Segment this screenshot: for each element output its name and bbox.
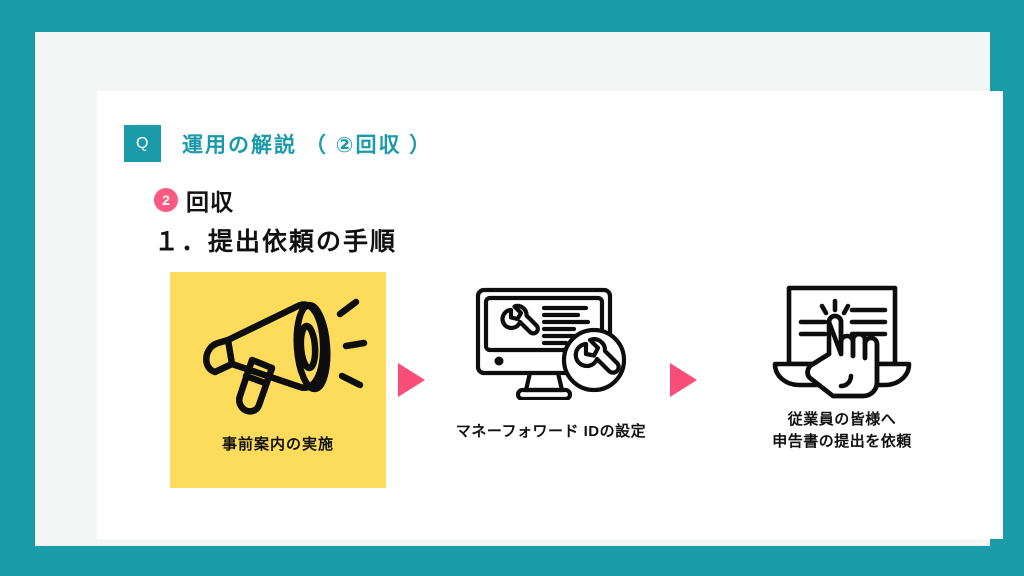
- flow-step-2-label: マネーフォワード IDの設定: [437, 420, 665, 441]
- flow-arrow-1-icon: [398, 363, 425, 397]
- section-title: 回収: [186, 183, 234, 217]
- monitor-settings-icon-wrap: [437, 281, 665, 401]
- laptop-hand-pointer-icon-wrap: [717, 281, 967, 401]
- megaphone-icon-wrap: [170, 290, 386, 420]
- slide-canvas: Q 運用の解説 （ ②回収 ） 2 回収 １．提出依頼の手順: [0, 0, 1024, 576]
- megaphone-icon: [188, 290, 368, 420]
- page-title: 運用の解説 （ ②回収 ）: [182, 129, 432, 159]
- monitor-settings-icon: [466, 282, 636, 400]
- q-badge-label: Q: [136, 135, 149, 153]
- flow-step-2: マネーフォワード IDの設定: [437, 281, 665, 481]
- slide-frame: Q 運用の解説 （ ②回収 ） 2 回収 １．提出依頼の手順: [35, 32, 990, 546]
- flow-step-3-label-line2: 申告書の提出を依頼: [717, 431, 967, 453]
- flow-step-3-label: 従業員の皆様へ 申告書の提出を依頼: [717, 409, 967, 453]
- flow-step-3-label-line1: 従業員の皆様へ: [717, 409, 967, 431]
- section-number-label: 2: [162, 193, 170, 207]
- q-badge: Q: [124, 125, 161, 162]
- section-heading-row: 2 回収: [154, 183, 234, 217]
- section-subtitle: １．提出依頼の手順: [154, 222, 397, 258]
- slide-title-row: Q 運用の解説 （ ②回収 ）: [124, 125, 432, 162]
- flow-step-3: 従業員の皆様へ 申告書の提出を依頼: [717, 281, 967, 491]
- flow-arrow-2-icon: [670, 363, 697, 397]
- laptop-hand-pointer-icon: [767, 282, 917, 400]
- section-number-badge: 2: [154, 188, 178, 212]
- slide-content-card: Q 運用の解説 （ ②回収 ） 2 回収 １．提出依頼の手順: [97, 91, 1003, 539]
- flow-step-1: 事前案内の実施: [170, 272, 386, 488]
- flow-step-1-label: 事前案内の実施: [170, 433, 386, 454]
